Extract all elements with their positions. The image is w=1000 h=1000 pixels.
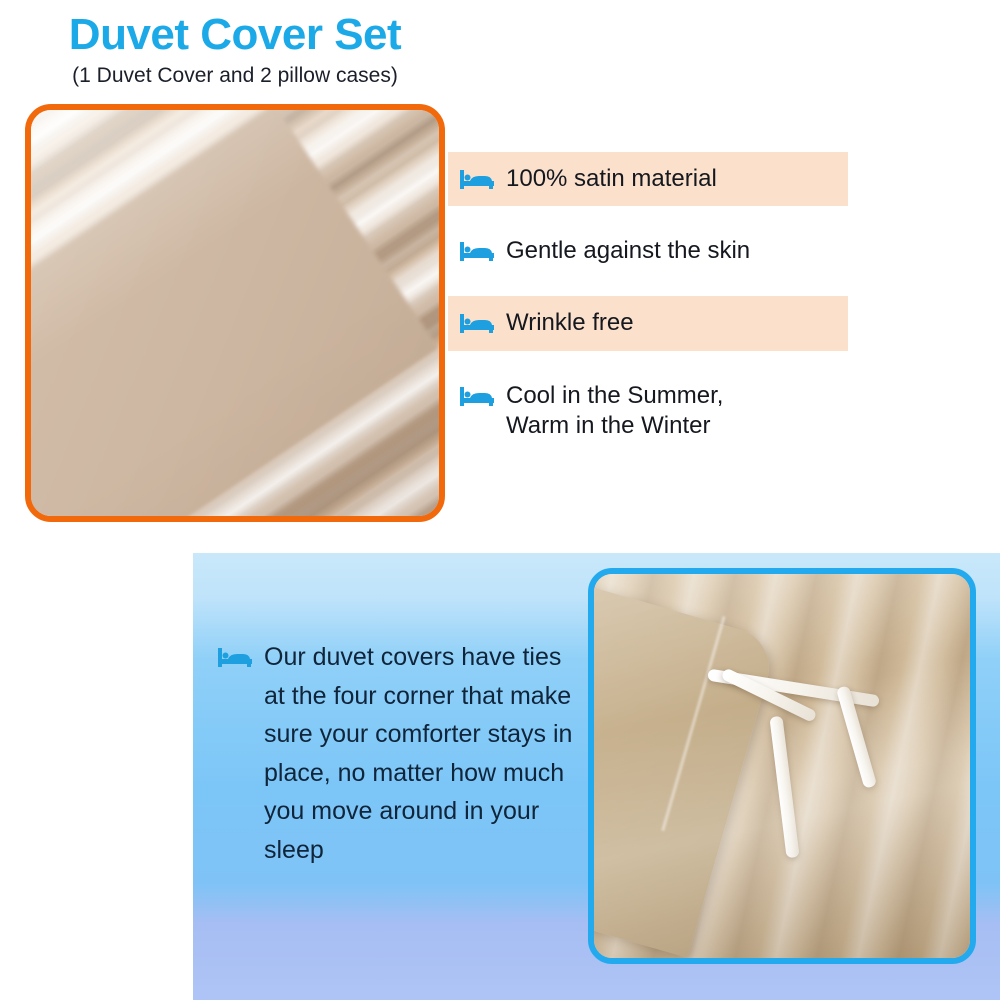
feature-item: Cool in the Summer, Warm in the Winter — [448, 369, 848, 453]
bed-icon — [218, 646, 252, 668]
duvet-corner-ties-photo — [588, 568, 976, 964]
bed-icon — [460, 312, 494, 334]
satin-fabric-photo — [25, 104, 445, 522]
feature-item: 100% satin material — [448, 152, 848, 206]
feature-item: Gentle against the skin — [448, 224, 848, 278]
ties-sheen-overlay — [594, 574, 970, 958]
bed-icon — [460, 385, 494, 407]
bottom-description-block: Our duvet covers have ties at the four c… — [218, 638, 578, 869]
satin-sheen-overlay — [31, 110, 439, 516]
feature-label: 100% satin material — [506, 164, 717, 194]
feature-list: 100% satin material Gentle against the s… — [448, 152, 848, 453]
bed-icon — [460, 240, 494, 262]
feature-label: Wrinkle free — [506, 308, 634, 338]
feature-label: Cool in the Summer, Warm in the Winter — [506, 381, 723, 441]
header-block: Duvet Cover Set (1 Duvet Cover and 2 pil… — [0, 12, 470, 87]
feature-item: Wrinkle free — [448, 296, 848, 350]
bottom-paragraph: Our duvet covers have ties at the four c… — [264, 638, 578, 869]
page-subtitle: (1 Duvet Cover and 2 pillow cases) — [0, 64, 470, 87]
bed-icon — [460, 168, 494, 190]
page-title: Duvet Cover Set — [0, 12, 470, 58]
feature-label: Gentle against the skin — [506, 236, 750, 266]
